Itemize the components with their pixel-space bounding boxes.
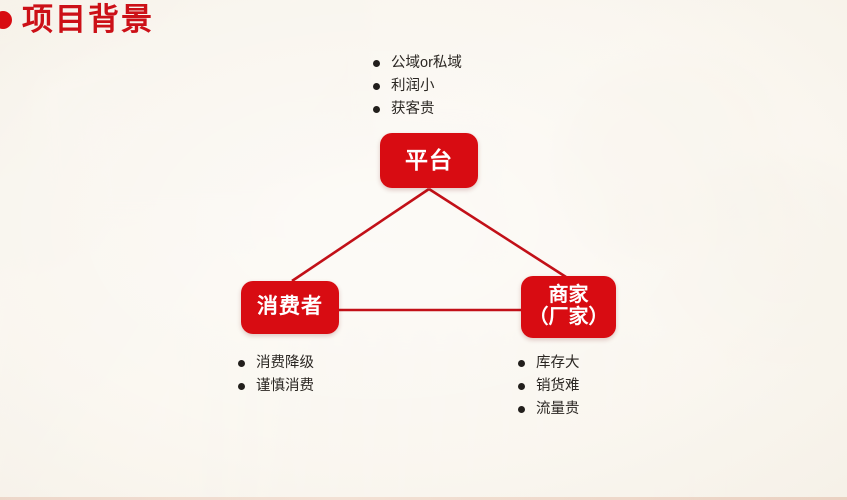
diagram-node-platform-label: 平台 <box>405 148 453 173</box>
diagram-node-consumer-label: 消费者 <box>257 296 323 319</box>
diagram-node-merchant-line1: 商家 <box>549 284 589 306</box>
connector-platform-to-consumer <box>292 189 429 281</box>
slide-canvas: 项目背景 平台 消费者 商家 （厂家） 公域or私域利润小获客贵 消费降级谨慎消… <box>0 0 847 500</box>
diagram-node-merchant[interactable]: 商家 （厂家） <box>521 276 616 338</box>
diagram-node-merchant-label: 商家 （厂家） <box>529 285 609 328</box>
diagram-connectors <box>0 0 847 500</box>
diagram-node-merchant-line2: （厂家） <box>529 306 609 328</box>
diagram-node-platform[interactable]: 平台 <box>380 133 478 188</box>
connector-platform-to-merchant <box>429 189 566 277</box>
diagram-node-consumer[interactable]: 消费者 <box>241 281 339 334</box>
